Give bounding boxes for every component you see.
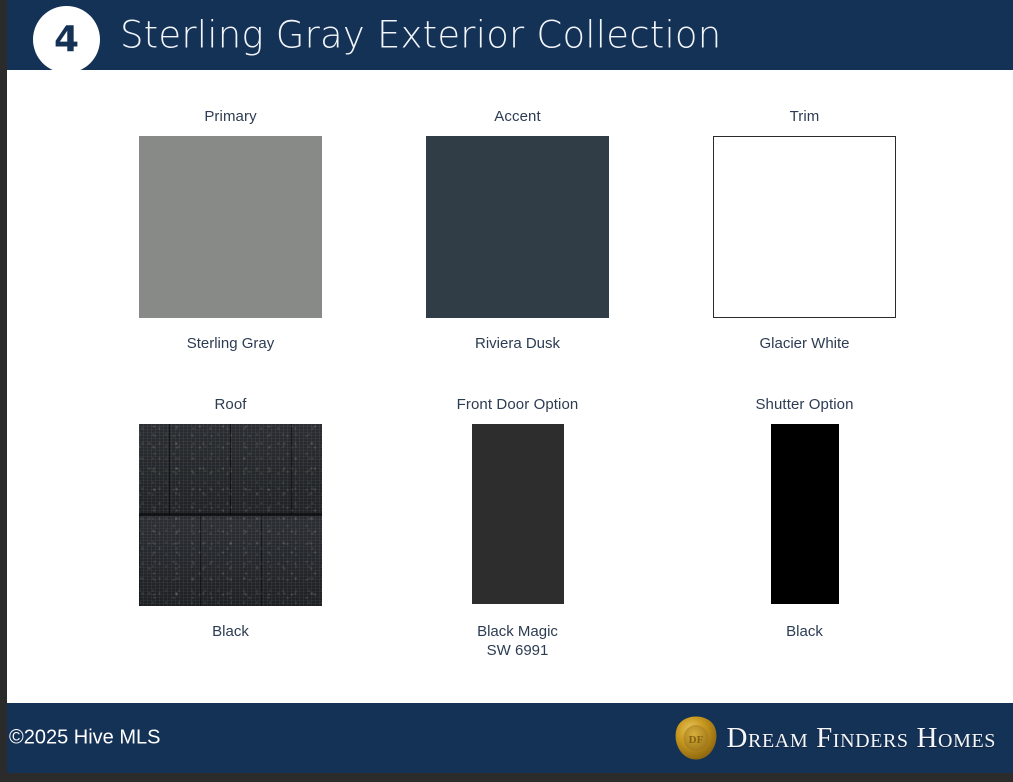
swatch-name-label: Glacier White [759,334,849,353]
swatch-category-label: Front Door Option [457,396,579,413]
swatch-category-label: Primary [204,108,256,125]
brand-logo: DF Dream Finders Homes [674,715,997,761]
swatch-grid: Primary Sterling Gray Accent Riviera Dus… [7,70,1013,703]
color-swatch-accent[interactable] [426,136,609,318]
swatch-row: Roof Black Front Door Option Black Magic… [7,396,1013,660]
wax-seal-icon: DF [674,715,718,761]
page-title: Sterling Gray Exterior Collection [120,14,721,57]
swatch-category-label: Shutter Option [755,396,853,413]
swatch-name-label: Riviera Dusk [475,334,560,353]
swatch-row: Primary Sterling Gray Accent Riviera Dus… [7,108,1013,353]
swatch-name-label: Black [212,622,249,641]
swatch-box-wrap [661,136,948,319]
step-number-badge: 4 [33,6,100,73]
slide-header: Sterling Gray Exterior Collection [7,0,1013,70]
swatch-category-label: Roof [214,396,246,413]
swatch-cell-accent[interactable]: Accent Riviera Dusk [374,108,661,353]
brand-name-label: Dream Finders Homes [727,722,997,755]
swatch-cell-primary[interactable]: Primary Sterling Gray [87,108,374,353]
swatch-name-label: Black [786,622,823,641]
swatch-cell-front-door[interactable]: Front Door Option Black Magic SW 6991 [374,396,661,660]
swatch-box-wrap [87,424,374,607]
color-swatch-shutter[interactable] [771,424,839,604]
swatch-box-wrap [661,424,948,607]
swatch-box-wrap [374,424,661,607]
swatch-name-label: Sterling Gray [187,334,275,353]
slide-canvas: Sterling Gray Exterior Collection 4 Prim… [7,0,1013,773]
step-number-label: 4 [54,22,79,58]
material-swatch-roof[interactable] [139,424,322,606]
swatch-box-wrap [87,136,374,319]
swatch-cell-trim[interactable]: Trim Glacier White [661,108,948,353]
color-swatch-primary[interactable] [139,136,322,318]
swatch-category-label: Accent [494,108,540,125]
swatch-cell-shutter[interactable]: Shutter Option Black [661,396,948,660]
swatch-box-wrap [374,136,661,319]
slide-page: Sterling Gray Exterior Collection 4 Prim… [0,0,1013,782]
slide-footer: ©2025 Hive MLS [7,703,1013,773]
swatch-name-label: Black Magic SW 6991 [477,622,558,660]
copyright-label: ©2025 Hive MLS [9,727,160,750]
swatch-category-label: Trim [790,108,820,125]
color-swatch-front-door[interactable] [472,424,564,604]
brand-monogram-text: DF [688,734,703,746]
swatch-cell-roof[interactable]: Roof Black [87,396,374,660]
color-swatch-trim[interactable] [713,136,896,318]
